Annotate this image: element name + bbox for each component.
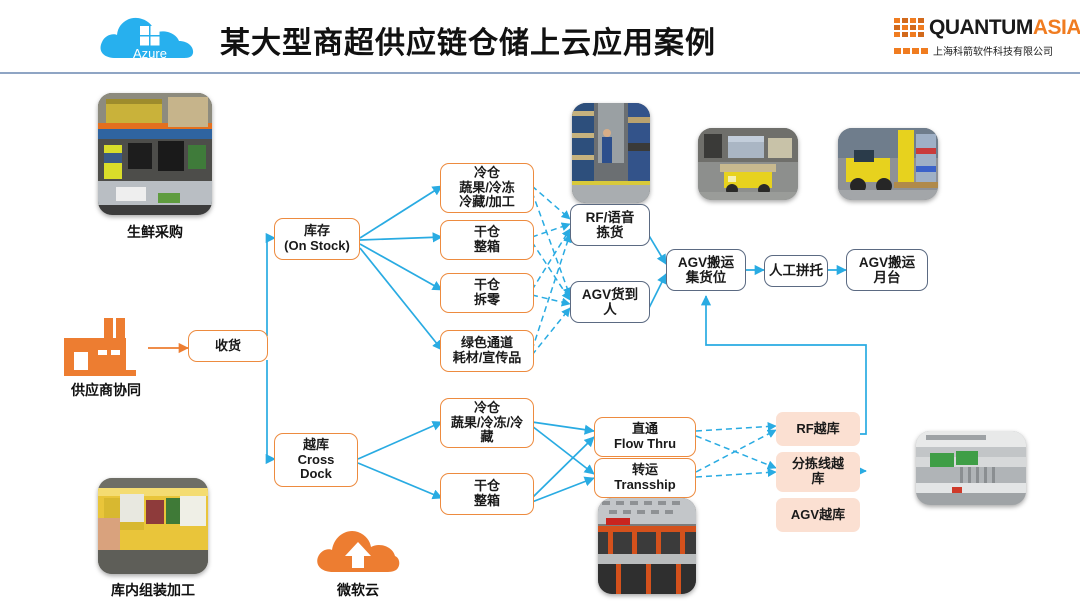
caption-in-warehouse-assembly: 库内组装加工 bbox=[78, 580, 228, 600]
azure-logo-label: Azure bbox=[133, 46, 167, 61]
node-dry-case-bottom[interactable]: 干仓 整箱 bbox=[440, 473, 534, 515]
photo-aisle-picking bbox=[572, 103, 650, 203]
node-rf-voice-pick[interactable]: RF/语音 拣货 bbox=[570, 204, 650, 246]
photo-conveyor bbox=[916, 431, 1026, 505]
photo-forklift bbox=[838, 128, 938, 200]
brand-name-primary: QUANTUM bbox=[929, 16, 1033, 39]
node-cold-store-top[interactable]: 冷仓 蔬果/冷冻 冷藏/加工 bbox=[440, 163, 534, 213]
node-receiving[interactable]: 收货 bbox=[188, 330, 268, 362]
azure-cloud-logo: Azure bbox=[96, 8, 204, 66]
node-flow-thru[interactable]: 直通 Flow Thru bbox=[594, 417, 696, 457]
node-agv-move-consolidation[interactable]: AGV搬运 集货位 bbox=[666, 249, 746, 291]
node-sorter-crossdock[interactable]: 分拣线越 库 bbox=[776, 452, 860, 492]
node-agv-move-dock[interactable]: AGV搬运 月台 bbox=[846, 249, 928, 291]
caption-supplier-collab: 供应商协同 bbox=[46, 380, 166, 400]
photo-sorter-chutes bbox=[598, 498, 696, 594]
photo-basket-assembly bbox=[98, 478, 208, 574]
brand-subtitle: 上海科箭软件科技有限公司 bbox=[933, 43, 1053, 58]
brand-name-accent: ASIA bbox=[1033, 16, 1080, 39]
page-header: Azure 某大型商超供应链仓储上云应用案例 QUANTUMASIA 上海科箭软… bbox=[0, 0, 1080, 74]
node-green-channel[interactable]: 绿色通道 耗材/宣传品 bbox=[440, 330, 534, 372]
microsoft-cloud-upload-icon bbox=[315, 520, 401, 576]
brand-squares-icon bbox=[894, 18, 924, 37]
factory-icon bbox=[64, 318, 148, 376]
node-on-stock[interactable]: 库存 (On Stock) bbox=[274, 218, 360, 260]
caption-fresh-procurement: 生鲜采购 bbox=[98, 222, 212, 242]
node-transship[interactable]: 转运 Transship bbox=[594, 458, 696, 498]
node-rf-crossdock[interactable]: RF越库 bbox=[776, 412, 860, 446]
node-dry-piece-top[interactable]: 干仓 拆零 bbox=[440, 273, 534, 313]
node-manual-palletize[interactable]: 人工拼托 bbox=[764, 255, 828, 287]
photo-agv-vehicle bbox=[698, 128, 798, 200]
node-agv-crossdock[interactable]: AGV越库 bbox=[776, 498, 860, 532]
quantum-asia-logo: QUANTUMASIA 上海科箭软件科技有限公司 bbox=[894, 14, 1066, 60]
page-title: 某大型商超供应链仓储上云应用案例 bbox=[220, 18, 716, 62]
node-cross-dock[interactable]: 越库 Cross Dock bbox=[274, 433, 358, 487]
brand-underline-squares-icon bbox=[894, 48, 928, 54]
node-dry-case-top[interactable]: 干仓 整箱 bbox=[440, 220, 534, 260]
node-agv-goods-to-person[interactable]: AGV货到 人 bbox=[570, 281, 650, 323]
photo-fresh-sorting bbox=[98, 93, 212, 215]
node-cold-store-bottom[interactable]: 冷仓 蔬果/冷冻/冷 藏 bbox=[440, 398, 534, 448]
caption-microsoft-cloud: 微软云 bbox=[313, 580, 403, 600]
